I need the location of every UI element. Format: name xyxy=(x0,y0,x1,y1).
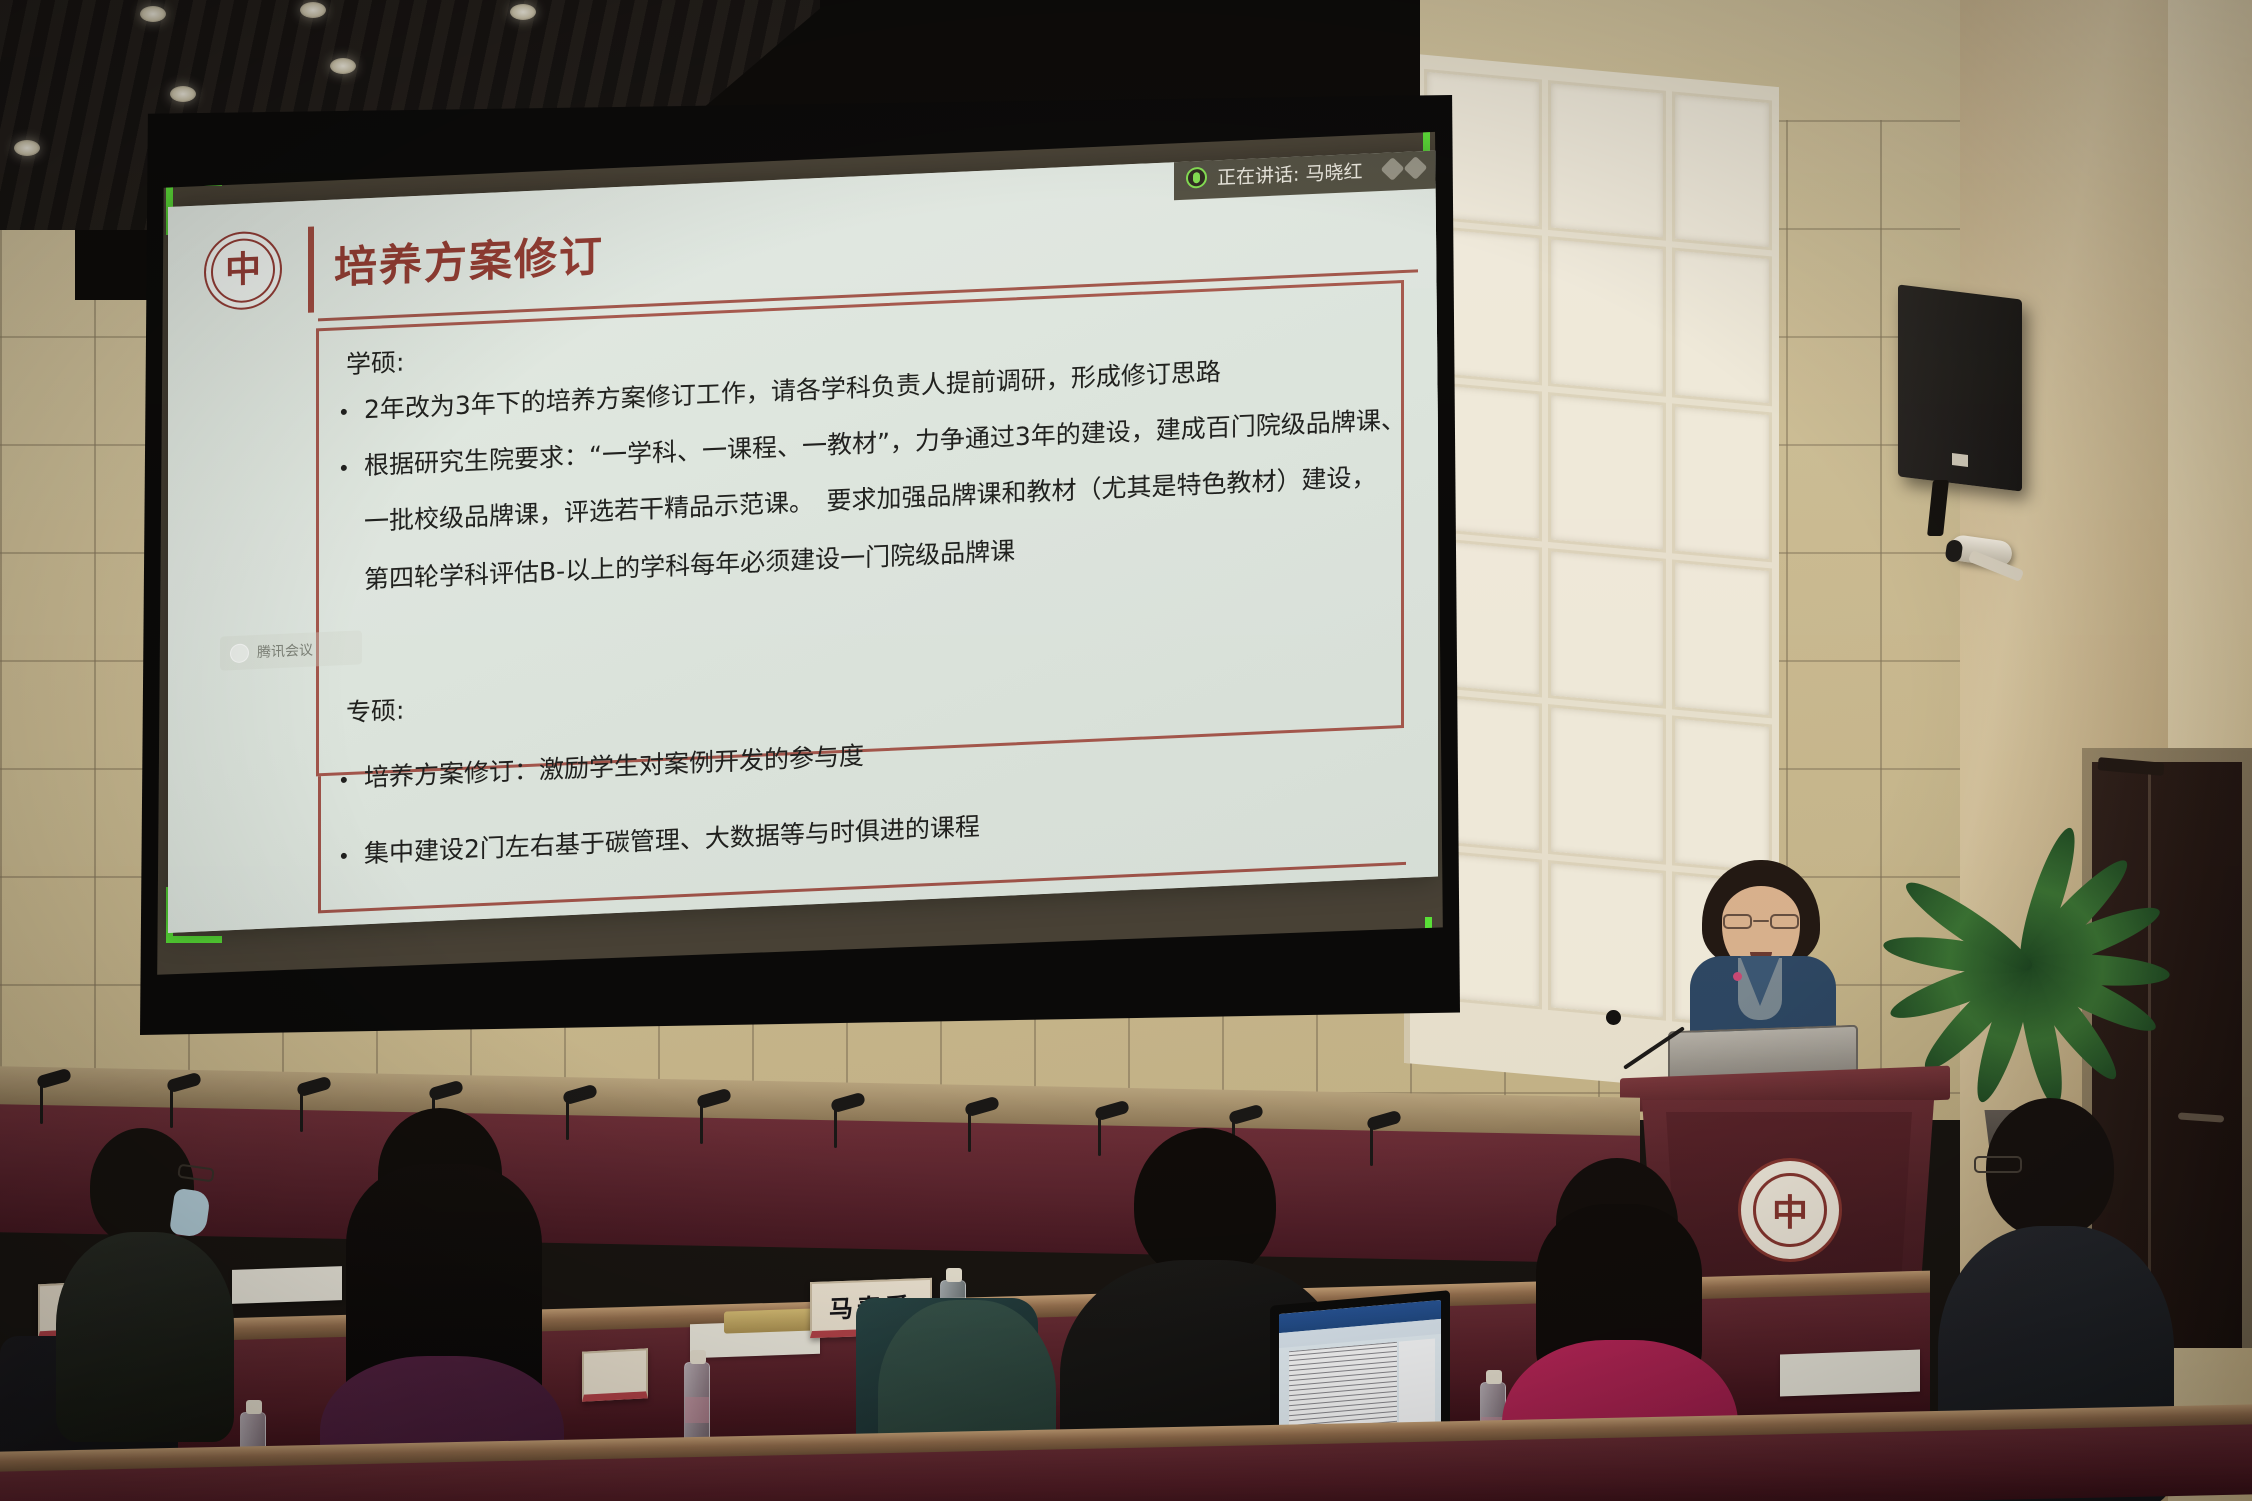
podium-seal-glyph: 中 xyxy=(1753,1173,1827,1247)
desk-microphone xyxy=(566,1098,569,1140)
microphone-icon xyxy=(1186,166,1207,188)
user-avatar-icon xyxy=(230,643,249,663)
podium-microphone-head xyxy=(1606,1010,1621,1025)
participant-badge[interactable]: 腾讯会议 xyxy=(220,630,362,670)
desk-microphone xyxy=(1370,1124,1373,1166)
presenter xyxy=(1688,860,1838,1040)
water-bottle xyxy=(684,1362,710,1448)
university-seal-icon: 中 xyxy=(204,230,282,311)
shared-slide: 中 培养方案修订 学硕: • 2年改为3年下的培养方案修订工作，请各学科负责人提… xyxy=(168,150,1438,933)
bullet-marker: • xyxy=(340,455,348,481)
section-heading-xueshuo: 学硕: xyxy=(346,348,404,379)
desk-microphone xyxy=(700,1102,703,1144)
desk-microphone xyxy=(300,1090,303,1132)
desk-microphone xyxy=(170,1086,173,1128)
desk-microphone xyxy=(40,1082,43,1124)
section-heading-zhuanshuo: 专硕: xyxy=(346,696,404,727)
laptop-screen xyxy=(1279,1300,1441,1439)
lower-section-left-rule xyxy=(318,776,321,912)
minimize-icon[interactable] xyxy=(1384,159,1424,178)
ceiling-downlight xyxy=(330,58,356,74)
bullet-marker: • xyxy=(340,399,348,425)
audience-member xyxy=(56,1128,226,1428)
bullet-zhuanshuo-2: 集中建设2门左右基于碳管理、大数据等与时俱进的课程 xyxy=(364,813,980,869)
ceiling-downlight xyxy=(140,6,166,22)
lower-section-divider xyxy=(318,862,1406,913)
participant-badge-label: 腾讯会议 xyxy=(257,640,313,662)
document-page-blank xyxy=(1399,1338,1435,1425)
podium-university-seal-icon: 中 xyxy=(1738,1158,1842,1262)
name-placard xyxy=(582,1348,648,1401)
ceiling-downlight xyxy=(510,4,536,20)
active-speaker-label: 正在讲话: 马晓红 xyxy=(1217,156,1362,189)
conference-room-scene: 中 培养方案修订 学硕: • 2年改为3年下的培养方案修订工作，请各学科负责人提… xyxy=(0,0,2252,1501)
screen-surface: 中 培养方案修订 学硕: • 2年改为3年下的培养方案修订工作，请各学科负责人提… xyxy=(152,119,1448,979)
presenter-pin xyxy=(1733,972,1742,981)
audience-torso xyxy=(56,1232,234,1442)
document-page xyxy=(1289,1342,1397,1435)
seal-glyph: 中 xyxy=(225,252,261,290)
bullet-marker: • xyxy=(340,843,348,869)
glasses-icon xyxy=(1974,1156,2022,1173)
glasses-icon xyxy=(1723,914,1799,929)
audience-head xyxy=(1134,1128,1276,1280)
notebook xyxy=(724,1308,816,1333)
paper-sheet xyxy=(1780,1350,1920,1397)
projection-screen: 中 培养方案修订 学硕: • 2年改为3年下的培养方案修订工作，请各学科负责人提… xyxy=(140,95,1460,1035)
ceiling-downlight xyxy=(14,140,40,156)
bullet-marker: • xyxy=(340,767,348,793)
wall-speaker xyxy=(1898,284,2022,491)
title-accent-bar xyxy=(308,226,314,312)
ceiling-downlight xyxy=(300,2,326,18)
face-mask-icon xyxy=(169,1188,211,1239)
desk-microphone xyxy=(968,1110,971,1152)
slide-title: 培养方案修订 xyxy=(334,222,604,296)
desk-microphone xyxy=(834,1106,837,1148)
